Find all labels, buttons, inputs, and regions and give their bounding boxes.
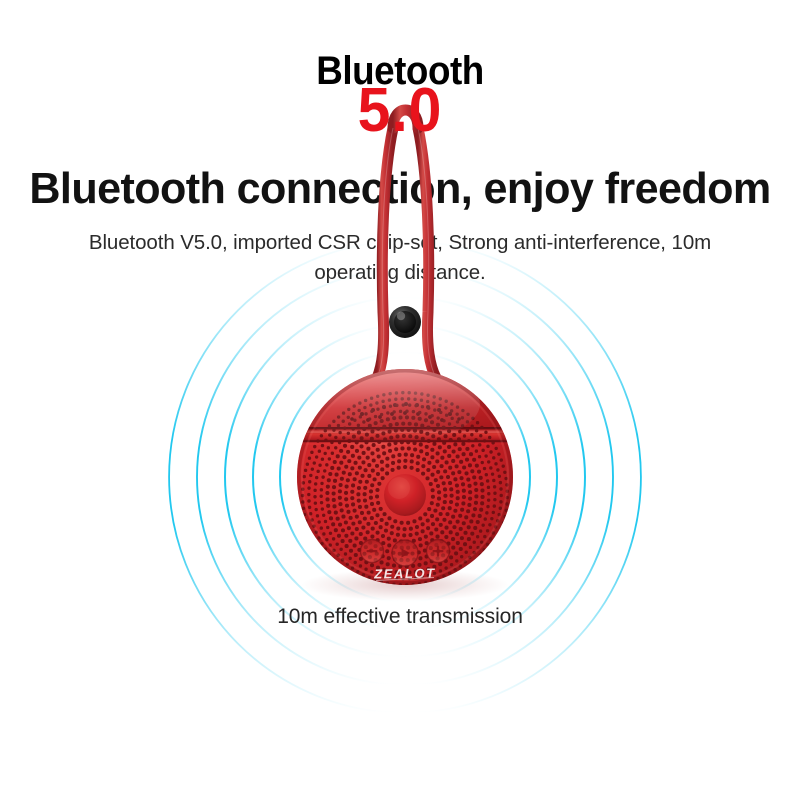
cord-lock-toggle [389,306,421,338]
speaker-wrist-strap [377,110,436,378]
bluetooth-speaker-product-image: ZEALOT [0,0,800,800]
brand-logo-zealot: ZEALOT [373,565,436,581]
speaker-control-buttons[interactable] [361,540,450,567]
speaker-body: ZEALOT [285,360,525,668]
play-pause-button[interactable] [392,540,418,566]
volume-down-button[interactable] [361,540,384,563]
volume-up-button[interactable] [427,540,450,563]
product-marketing-banner: Bluetooth 5.0 Bluetooth connection, enjo… [0,0,800,800]
